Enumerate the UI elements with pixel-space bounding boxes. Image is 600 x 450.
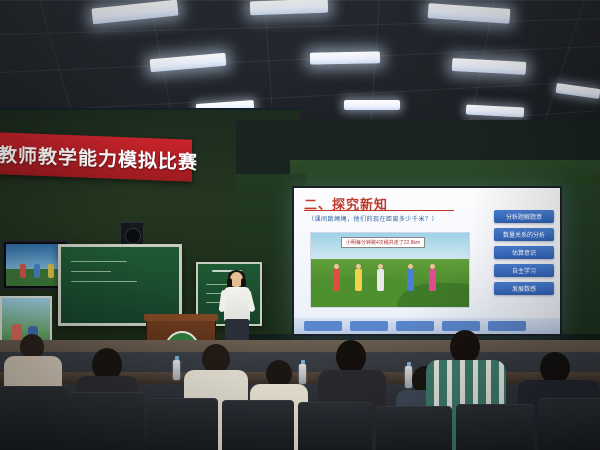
- chair: [456, 404, 534, 450]
- slide-tag-1: 数量关系的分析: [494, 228, 554, 241]
- monitor-image: [6, 244, 64, 286]
- projection-screen: 二、探究新知 （课间跳绳绳，他们的现在距离多少千米？） 小明每分钟跳4次绳共走了…: [292, 186, 562, 336]
- slide-subtitle: （课间跳绳绳，他们的现在距离多少千米？）: [308, 214, 438, 223]
- chair: [298, 402, 372, 450]
- chair: [376, 406, 452, 450]
- chair: [68, 392, 144, 450]
- event-banner: 教师教学能力模拟比赛: [0, 132, 192, 182]
- presentation-slide: 二、探究新知 （课间跳绳绳，他们的现在距离多少千米？） 小明每分钟跳4次绳共走了…: [294, 188, 560, 334]
- photo-scene: 教师教学能力模拟比赛 二、探究新知 （课间跳绳绳，他们的现在距离多少千米？）: [0, 0, 600, 450]
- slide-photo-caption: 小明每分钟跳4次绳共走了22.8km: [341, 237, 425, 248]
- slide-tag-3: 自主学习: [494, 264, 554, 277]
- water-bottle: [405, 366, 412, 388]
- ceiling-light-panel: [344, 100, 400, 110]
- chair: [538, 398, 600, 450]
- wall-panel-a: [290, 160, 600, 186]
- banner-text: 教师教学能力模拟比赛: [0, 140, 198, 175]
- chair: [0, 386, 68, 450]
- wall-panel-c: [556, 184, 600, 334]
- chair: [222, 400, 294, 450]
- slide-tag-0: 分析题解题意: [494, 210, 554, 223]
- slide-footer: [294, 318, 560, 334]
- water-bottle: [299, 364, 306, 384]
- slide-tag-4: 发展数感: [494, 282, 554, 295]
- water-bottle: [173, 360, 180, 380]
- chair: [148, 398, 218, 450]
- slide-tag-2: 估算意识: [494, 246, 554, 259]
- ceiling-light-panel: [310, 51, 380, 64]
- slide-photo: 小明每分钟跳4次绳共走了22.8km: [310, 232, 470, 308]
